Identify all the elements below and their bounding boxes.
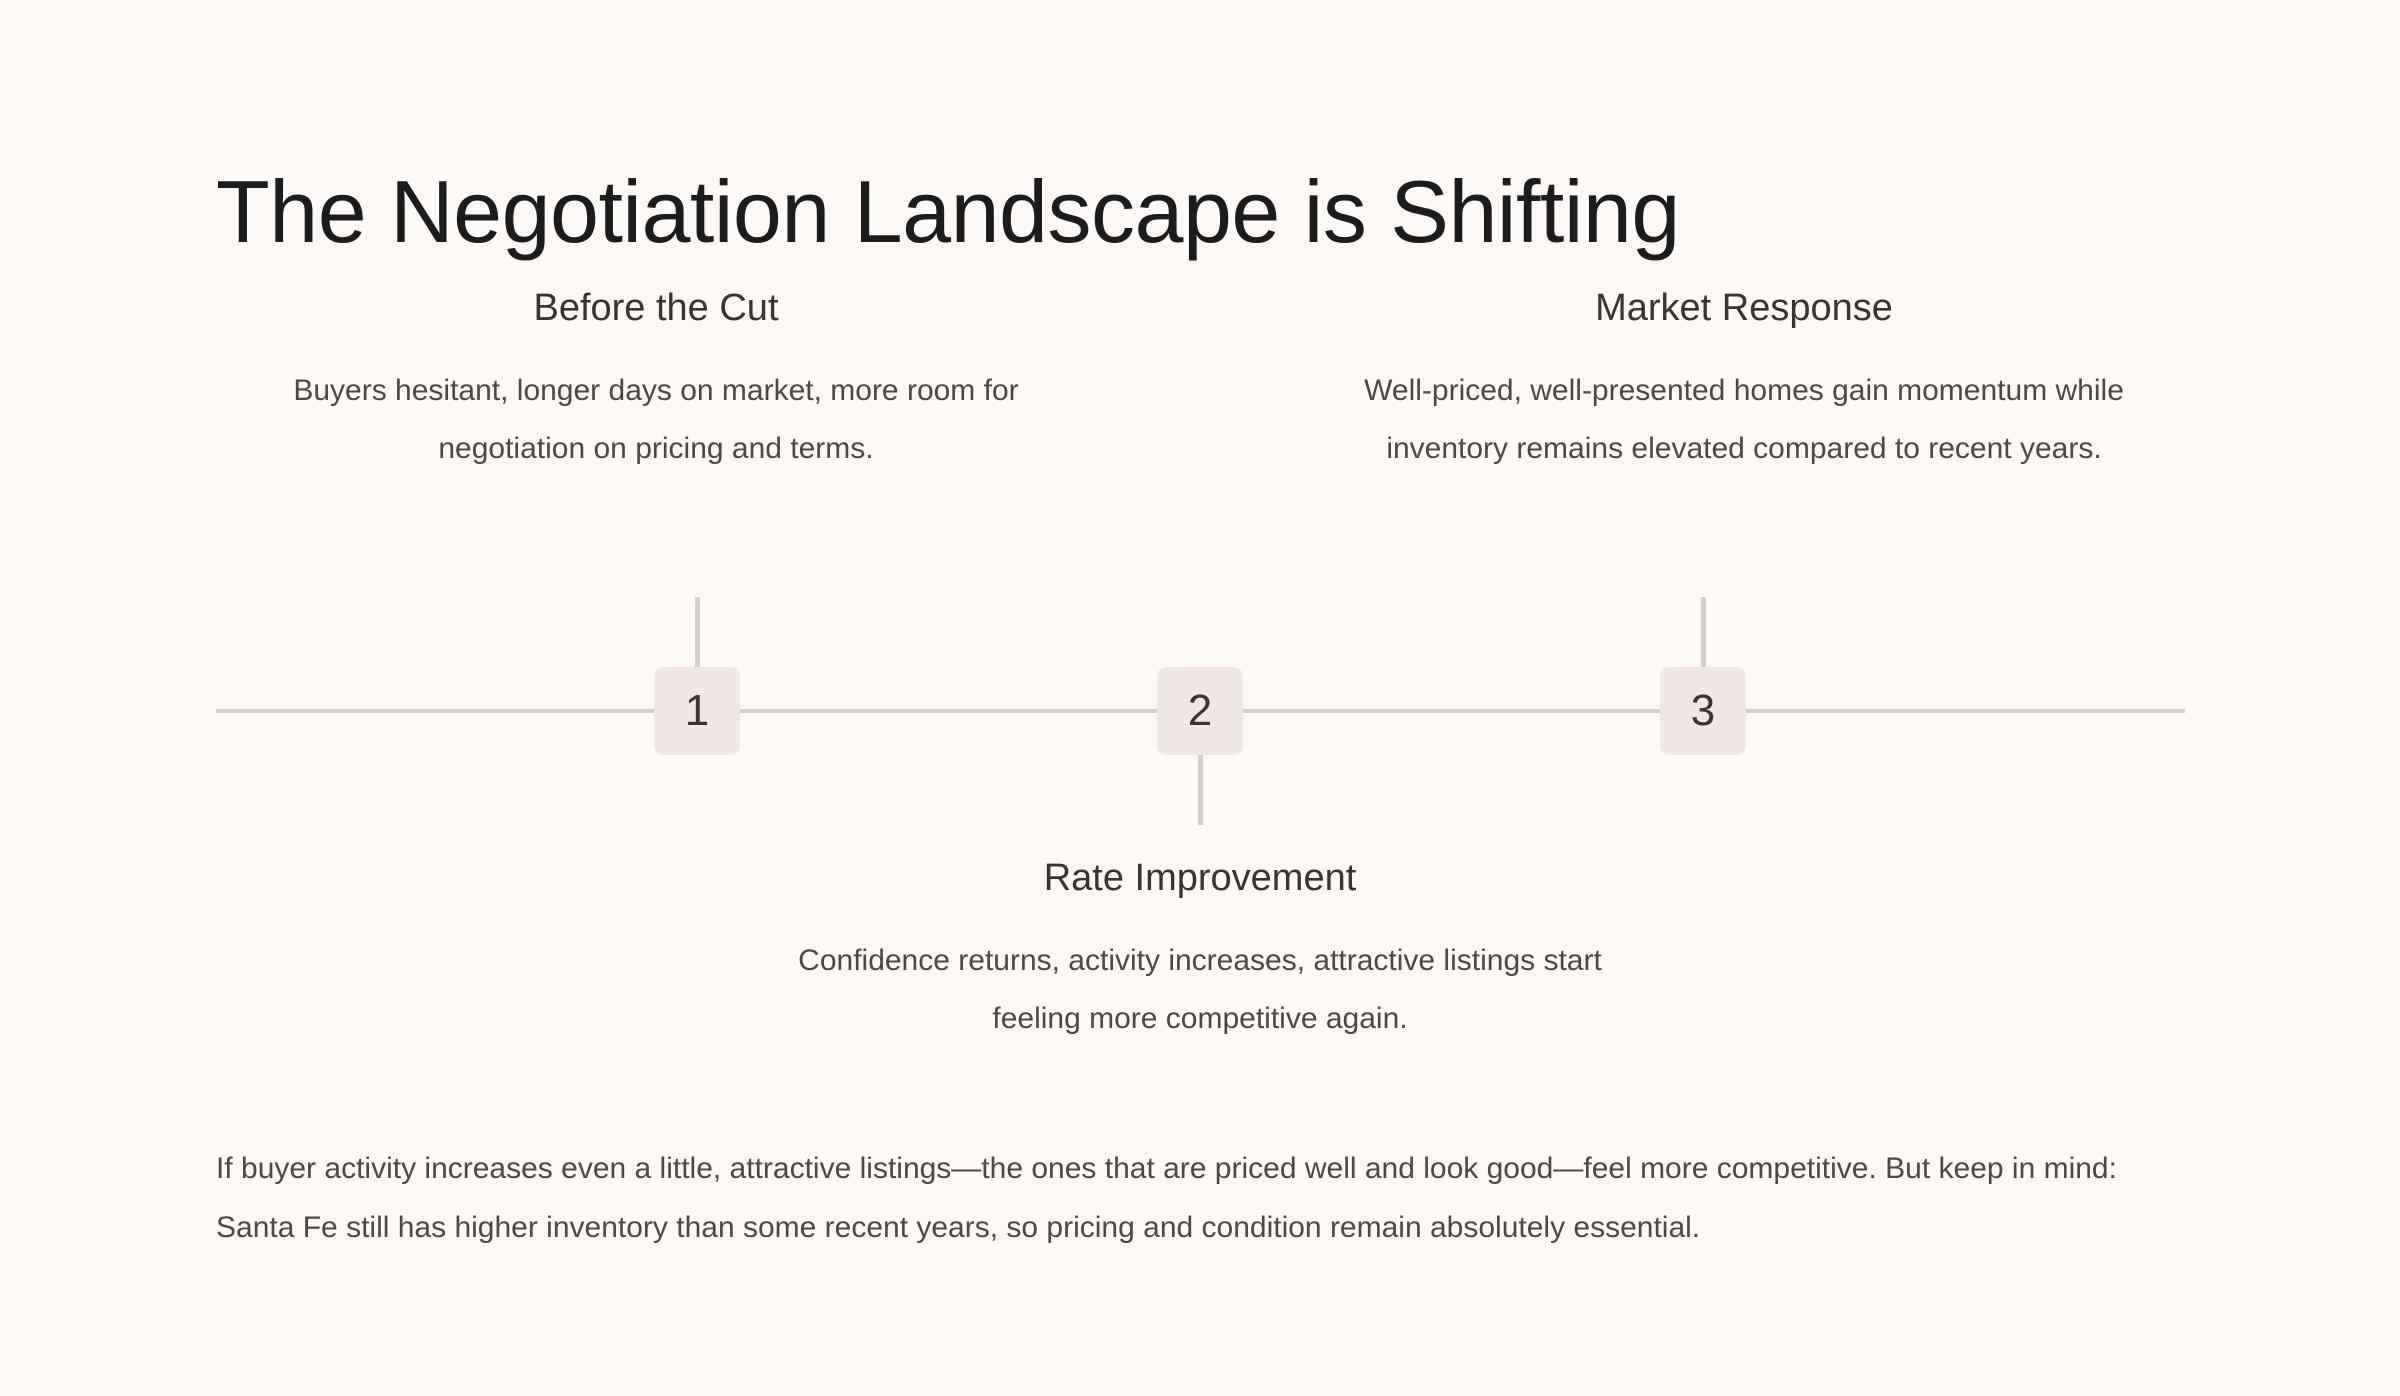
timeline-node-2[interactable]: 2 bbox=[1157, 667, 1243, 755]
timeline-node-1[interactable]: 1 bbox=[654, 667, 740, 755]
step-heading-2: Rate Improvement bbox=[760, 856, 1640, 902]
timeline-stem-2 bbox=[1198, 753, 1203, 825]
step-description-3: Well-priced, well-presented homes gain m… bbox=[1304, 362, 2184, 479]
step-block-3: Market Response Well-priced, well-presen… bbox=[1304, 286, 2184, 479]
timeline-stem-3 bbox=[1701, 597, 1706, 669]
steps-below-timeline: Rate Improvement Confidence returns, act… bbox=[216, 856, 2184, 1056]
slide-canvas: The Negotiation Landscape is Shifting Be… bbox=[0, 0, 2400, 1396]
timeline-node-number-1: 1 bbox=[685, 689, 709, 733]
timeline-node-3[interactable]: 3 bbox=[1660, 667, 1746, 755]
step-heading-1: Before the Cut bbox=[216, 286, 1096, 332]
timeline-node-number-3: 3 bbox=[1691, 689, 1715, 733]
timeline-node-number-2: 2 bbox=[1188, 689, 1212, 733]
step-description-2: Confidence returns, activity increases, … bbox=[785, 932, 1615, 1049]
page-title: The Negotiation Landscape is Shifting bbox=[216, 163, 1680, 262]
step-heading-3: Market Response bbox=[1304, 286, 2184, 332]
step-description-1: Buyers hesitant, longer days on market, … bbox=[241, 362, 1071, 479]
step-block-1: Before the Cut Buyers hesitant, longer d… bbox=[216, 286, 1096, 479]
timeline-stem-1 bbox=[695, 597, 700, 669]
footer-note: If buyer activity increases even a littl… bbox=[216, 1140, 2136, 1257]
steps-above-timeline: Before the Cut Buyers hesitant, longer d… bbox=[216, 286, 2184, 566]
step-block-2: Rate Improvement Confidence returns, act… bbox=[760, 856, 1640, 1049]
